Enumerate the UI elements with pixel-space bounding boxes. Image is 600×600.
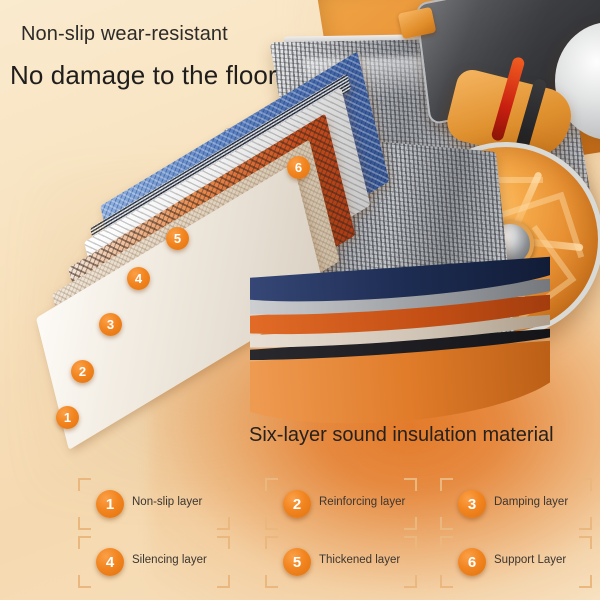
legend-badge: 5 (283, 548, 311, 576)
corner-bracket-icon (579, 517, 592, 530)
corner-bracket-icon (217, 536, 230, 549)
stack-badge-1: 1 (56, 406, 79, 429)
legend-label: Reinforcing layer (319, 496, 405, 508)
legend-item-support-layer: 6 Support Layer (440, 536, 592, 588)
corner-bracket-icon (404, 575, 417, 588)
corner-bracket-icon (78, 478, 91, 491)
legend-item-damping-layer: 3 Damping layer (440, 478, 592, 530)
corner-bracket-icon (217, 517, 230, 530)
corner-bracket-icon (579, 536, 592, 549)
corner-bracket-icon (217, 575, 230, 588)
stack-badge-3: 3 (99, 313, 122, 336)
corner-bracket-icon (265, 536, 278, 549)
legend-item-silencing-layer: 4 Silencing layer (78, 536, 230, 588)
corner-bracket-icon (440, 575, 453, 588)
headline-primary: Non-slip wear-resistant (21, 23, 228, 46)
corner-bracket-icon (78, 536, 91, 549)
stack-badge-5: 5 (166, 227, 189, 250)
product-infographic: 1 2 3 4 5 6 Non-slip wear-resistant No d… (0, 0, 600, 600)
corner-bracket-icon (404, 536, 417, 549)
legend-item-thickened-layer: 5 Thickened layer (265, 536, 417, 588)
corner-bracket-icon (404, 478, 417, 491)
legend-label: Damping layer (494, 496, 568, 508)
legend-badge: 3 (458, 490, 486, 518)
corner-bracket-icon (265, 575, 278, 588)
headline-secondary: No damage to the floor (10, 60, 277, 91)
corner-bracket-icon (579, 478, 592, 491)
corner-bracket-icon (78, 575, 91, 588)
legend-badge: 2 (283, 490, 311, 518)
corner-bracket-icon (265, 517, 278, 530)
corner-bracket-icon (265, 478, 278, 491)
legend-item-reinforcing-layer: 2 Reinforcing layer (265, 478, 417, 530)
corner-bracket-icon (217, 478, 230, 491)
stack-badge-2: 2 (71, 360, 94, 383)
legend-label: Silencing layer (132, 554, 207, 566)
legend-label: Thickened layer (319, 554, 400, 566)
corner-bracket-icon (404, 517, 417, 530)
corner-bracket-icon (579, 575, 592, 588)
corner-bracket-icon (440, 478, 453, 491)
legend-item-non-slip-layer: 1 Non-slip layer (78, 478, 230, 530)
legend-label: Support Layer (494, 554, 566, 566)
legend-badge: 6 (458, 548, 486, 576)
corner-bracket-icon (440, 536, 453, 549)
stack-badge-6: 6 (287, 156, 310, 179)
corner-bracket-icon (440, 517, 453, 530)
legend-label: Non-slip layer (132, 496, 202, 508)
layer-legend: 1 Non-slip layer 2 Reinforcing layer 3 D… (0, 478, 600, 600)
feature-caption: Six-layer sound insulation material (249, 424, 554, 447)
legend-badge: 1 (96, 490, 124, 518)
layer-curve-bands (250, 250, 550, 430)
corner-bracket-icon (78, 517, 91, 530)
legend-badge: 4 (96, 548, 124, 576)
stack-badge-4: 4 (127, 267, 150, 290)
